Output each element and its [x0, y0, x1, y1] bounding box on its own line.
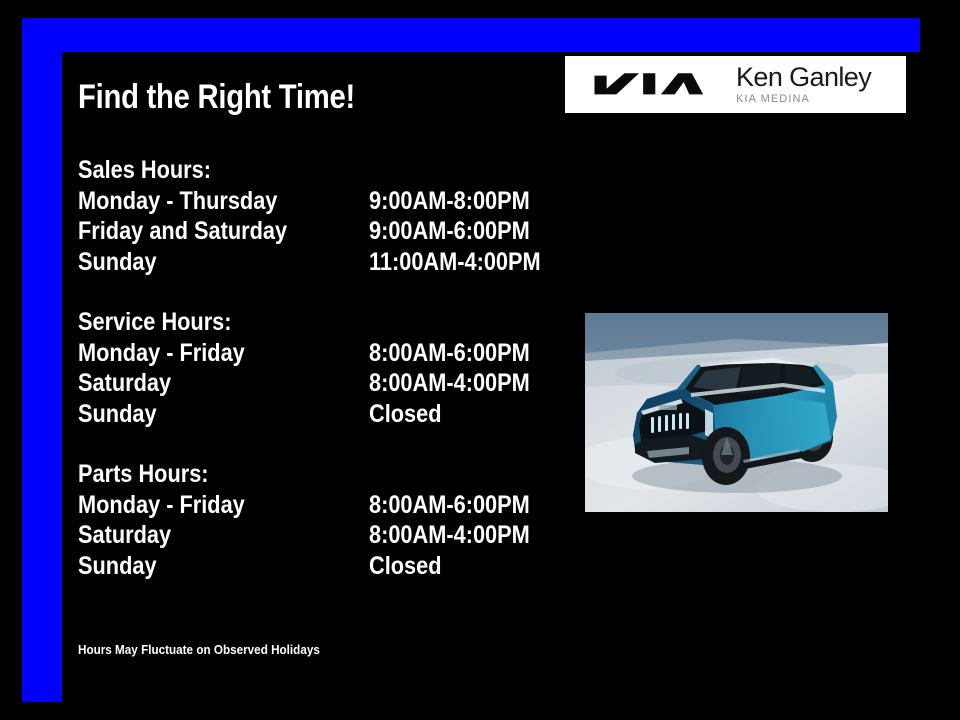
hours-row-value: 9:00AM-6:00PM — [369, 216, 530, 247]
hours-row: Sunday 11:00AM-4:00PM — [78, 247, 538, 278]
hours-row-label: Monday - Thursday — [78, 186, 277, 217]
hours-row-value: Closed — [369, 551, 442, 582]
hours-row: Monday - Thursday 9:00AM-8:00PM — [78, 186, 538, 217]
dealer-logo-card: Ken Ganley KIA MEDINA — [565, 56, 906, 113]
kia-ev9-suv-photo — [585, 313, 888, 512]
hours-row: Sunday Closed — [78, 399, 538, 430]
hours-row-label: Sunday — [78, 551, 157, 582]
hours-row-label: Saturday — [78, 368, 171, 399]
hours-row-label: Monday - Friday — [78, 338, 245, 369]
hours-row: Saturday 8:00AM-4:00PM — [78, 368, 538, 399]
hours-row-value: 11:00AM-4:00PM — [369, 247, 541, 278]
holiday-disclaimer: Hours May Fluctuate on Observed Holidays — [78, 642, 320, 657]
hours-row: Monday - Friday 8:00AM-6:00PM — [78, 338, 538, 369]
hours-section-service: Service Hours: Monday - Friday 8:00AM-6:… — [78, 307, 538, 429]
hours-row-label: Monday - Friday — [78, 490, 245, 521]
hours-row-label: Saturday — [78, 520, 171, 551]
dealer-subtitle: KIA MEDINA — [736, 93, 871, 105]
hours-row-label: Friday and Saturday — [78, 216, 287, 247]
hours-row-value: 8:00AM-6:00PM — [369, 490, 530, 521]
dealer-name: Ken Ganley — [736, 64, 871, 91]
hours-section-sales: Sales Hours: Monday - Thursday 9:00AM-8:… — [78, 155, 538, 277]
hours-row-value: 8:00AM-4:00PM — [369, 520, 530, 551]
hours-row-value: Closed — [369, 399, 442, 430]
hours-row-value: 8:00AM-4:00PM — [369, 368, 530, 399]
hours-row-value: 8:00AM-6:00PM — [369, 338, 530, 369]
hours-row: Saturday 8:00AM-4:00PM — [78, 520, 538, 551]
hours-row: Friday and Saturday 9:00AM-6:00PM — [78, 216, 538, 247]
kia-logo-mark — [587, 70, 709, 100]
dealer-name-block: Ken Ganley KIA MEDINA — [736, 64, 871, 105]
hours-row-label: Sunday — [78, 247, 157, 278]
slide-canvas: Find the Right Time! Sales Hours: Monday… — [0, 0, 960, 720]
hours-row: Sunday Closed — [78, 551, 538, 582]
hours-list: Sales Hours: Monday - Thursday 9:00AM-8:… — [78, 155, 538, 581]
section-heading: Parts Hours: — [78, 459, 478, 490]
section-heading: Sales Hours: — [78, 155, 478, 186]
hours-row-value: 9:00AM-8:00PM — [369, 186, 530, 217]
hours-section-parts: Parts Hours: Monday - Friday 8:00AM-6:00… — [78, 459, 538, 581]
page-title: Find the Right Time! — [78, 78, 355, 117]
hours-row-label: Sunday — [78, 399, 157, 430]
section-heading: Service Hours: — [78, 307, 478, 338]
hours-row: Monday - Friday 8:00AM-6:00PM — [78, 490, 538, 521]
